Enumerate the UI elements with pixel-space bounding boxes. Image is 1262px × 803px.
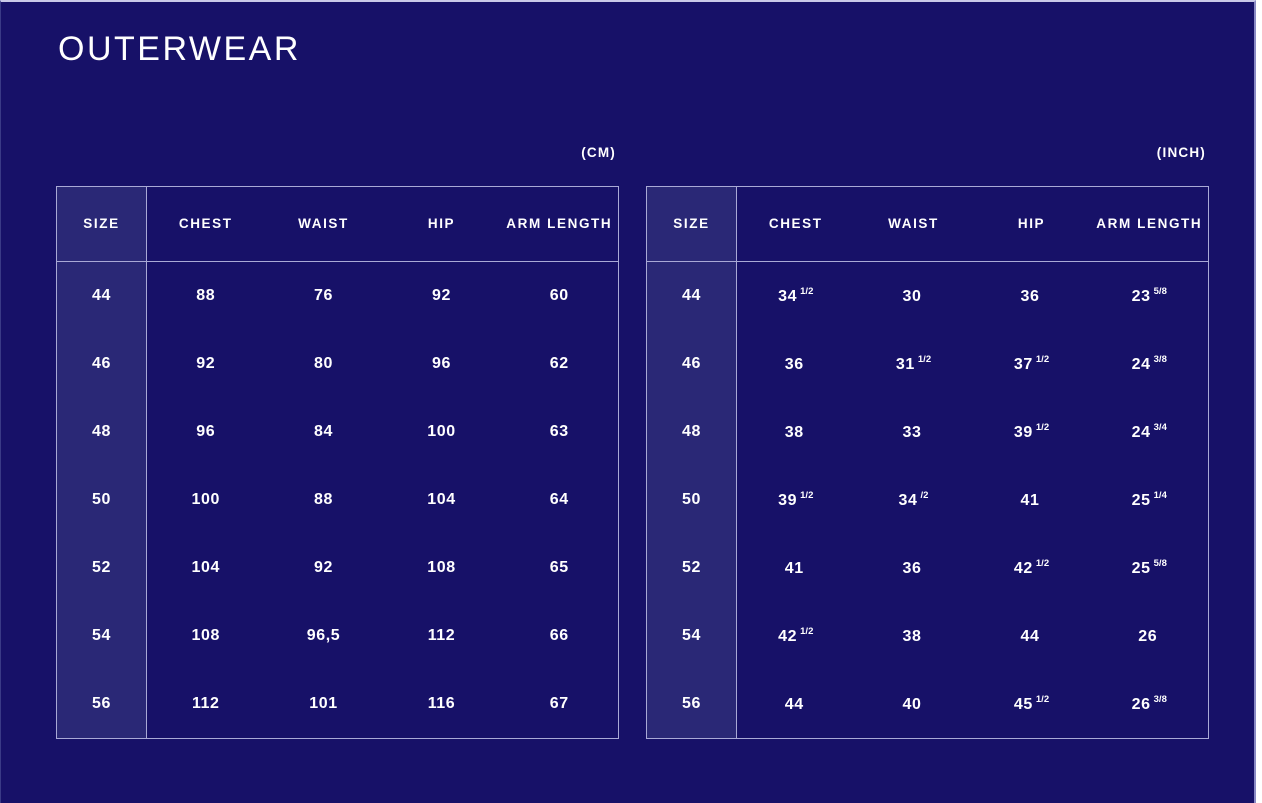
cell-hip: 92 xyxy=(383,262,501,331)
table-row: 46 36 311/2 371/2 243/8 xyxy=(647,330,1209,398)
table-header-row: SIZE CHEST WAIST HIP ARM LENGTH xyxy=(647,187,1209,262)
table-row: 54 421/2 38 44 26 xyxy=(647,602,1209,670)
cell-arm-length: 255/8 xyxy=(1091,534,1209,602)
column-header-size: SIZE xyxy=(647,187,737,262)
cell-chest: 421/2 xyxy=(737,602,855,670)
cell-hip: 451/2 xyxy=(973,670,1091,739)
cell-size: 44 xyxy=(647,262,737,331)
cell-arm-length: 63 xyxy=(501,398,619,466)
cell-hip: 36 xyxy=(973,262,1091,331)
table-row: 50 391/2 34/2 41 251/4 xyxy=(647,466,1209,534)
cell-arm-length: 243/4 xyxy=(1091,398,1209,466)
cell-size: 52 xyxy=(647,534,737,602)
cell-size: 44 xyxy=(57,262,147,331)
cell-hip: 104 xyxy=(383,466,501,534)
table-row: 48 96 84 100 63 xyxy=(57,398,619,466)
cell-chest: 96 xyxy=(147,398,265,466)
cell-arm-length: 263/8 xyxy=(1091,670,1209,739)
column-header-arm-length: ARM LENGTH xyxy=(1091,187,1209,262)
column-header-arm-length: ARM LENGTH xyxy=(501,187,619,262)
cell-size: 54 xyxy=(647,602,737,670)
cell-arm-length: 64 xyxy=(501,466,619,534)
cell-waist: 84 xyxy=(265,398,383,466)
column-header-hip: HIP xyxy=(383,187,501,262)
table-row: 52 41 36 421/2 255/8 xyxy=(647,534,1209,602)
table-row: 50 100 88 104 64 xyxy=(57,466,619,534)
table-row: 46 92 80 96 62 xyxy=(57,330,619,398)
column-header-hip: HIP xyxy=(973,187,1091,262)
cell-waist: 88 xyxy=(265,466,383,534)
size-table-cm: SIZE CHEST WAIST HIP ARM LENGTH 44 88 76… xyxy=(56,186,619,739)
size-chart-page: OUTERWEAR (CM) SIZE CHEST WAIST HIP ARM … xyxy=(0,0,1256,803)
unit-label-inch: (INCH) xyxy=(646,142,1208,164)
cell-size: 50 xyxy=(647,466,737,534)
cell-size: 48 xyxy=(647,398,737,466)
cell-arm-length: 235/8 xyxy=(1091,262,1209,331)
cell-chest: 44 xyxy=(737,670,855,739)
table-row: 52 104 92 108 65 xyxy=(57,534,619,602)
cell-chest: 92 xyxy=(147,330,265,398)
table-header-row: SIZE CHEST WAIST HIP ARM LENGTH xyxy=(57,187,619,262)
cell-hip: 421/2 xyxy=(973,534,1091,602)
cell-arm-length: 243/8 xyxy=(1091,330,1209,398)
cell-arm-length: 62 xyxy=(501,330,619,398)
cell-chest: 104 xyxy=(147,534,265,602)
cell-hip: 108 xyxy=(383,534,501,602)
cell-chest: 88 xyxy=(147,262,265,331)
cell-hip: 371/2 xyxy=(973,330,1091,398)
column-header-waist: WAIST xyxy=(265,187,383,262)
cell-waist: 36 xyxy=(855,534,973,602)
cell-arm-length: 251/4 xyxy=(1091,466,1209,534)
cell-size: 52 xyxy=(57,534,147,602)
cell-chest: 100 xyxy=(147,466,265,534)
cell-size: 46 xyxy=(57,330,147,398)
size-table-inch-block: (INCH) SIZE CHEST WAIST HIP ARM LENGTH xyxy=(646,142,1208,739)
cell-waist: 80 xyxy=(265,330,383,398)
cell-size: 56 xyxy=(647,670,737,739)
unit-label-cm: (CM) xyxy=(56,142,618,164)
cell-chest: 391/2 xyxy=(737,466,855,534)
size-tables-container: (CM) SIZE CHEST WAIST HIP ARM LENGTH xyxy=(1,142,1256,762)
cell-hip: 112 xyxy=(383,602,501,670)
cell-chest: 108 xyxy=(147,602,265,670)
column-header-chest: CHEST xyxy=(737,187,855,262)
cell-arm-length: 60 xyxy=(501,262,619,331)
cell-size: 56 xyxy=(57,670,147,739)
cell-arm-length: 66 xyxy=(501,602,619,670)
table-row: 56 44 40 451/2 263/8 xyxy=(647,670,1209,739)
table-body-inch: 44 341/2 30 36 235/8 46 36 311/2 371/2 2… xyxy=(647,262,1209,739)
cell-chest: 112 xyxy=(147,670,265,739)
column-header-size: SIZE xyxy=(57,187,147,262)
cell-chest: 36 xyxy=(737,330,855,398)
cell-hip: 391/2 xyxy=(973,398,1091,466)
cell-waist: 311/2 xyxy=(855,330,973,398)
table-row: 48 38 33 391/2 243/4 xyxy=(647,398,1209,466)
cell-chest: 38 xyxy=(737,398,855,466)
size-table-inch: SIZE CHEST WAIST HIP ARM LENGTH 44 341/2… xyxy=(646,186,1209,739)
cell-waist: 33 xyxy=(855,398,973,466)
table-row: 44 341/2 30 36 235/8 xyxy=(647,262,1209,331)
page-title: OUTERWEAR xyxy=(58,30,301,69)
cell-waist: 96,5 xyxy=(265,602,383,670)
cell-waist: 38 xyxy=(855,602,973,670)
cell-waist: 30 xyxy=(855,262,973,331)
table-row: 56 112 101 116 67 xyxy=(57,670,619,739)
cell-arm-length: 65 xyxy=(501,534,619,602)
column-header-chest: CHEST xyxy=(147,187,265,262)
cell-size: 54 xyxy=(57,602,147,670)
size-table-cm-block: (CM) SIZE CHEST WAIST HIP ARM LENGTH xyxy=(56,142,618,739)
cell-chest: 41 xyxy=(737,534,855,602)
cell-waist: 92 xyxy=(265,534,383,602)
cell-waist: 76 xyxy=(265,262,383,331)
table-row: 54 108 96,5 112 66 xyxy=(57,602,619,670)
cell-waist: 34/2 xyxy=(855,466,973,534)
cell-size: 46 xyxy=(647,330,737,398)
table-row: 44 88 76 92 60 xyxy=(57,262,619,331)
column-header-waist: WAIST xyxy=(855,187,973,262)
table-body-cm: 44 88 76 92 60 46 92 80 96 62 48 xyxy=(57,262,619,739)
cell-arm-length: 67 xyxy=(501,670,619,739)
cell-size: 48 xyxy=(57,398,147,466)
cell-hip: 96 xyxy=(383,330,501,398)
cell-arm-length: 26 xyxy=(1091,602,1209,670)
cell-hip: 41 xyxy=(973,466,1091,534)
cell-size: 50 xyxy=(57,466,147,534)
cell-hip: 44 xyxy=(973,602,1091,670)
cell-hip: 116 xyxy=(383,670,501,739)
cell-waist: 40 xyxy=(855,670,973,739)
cell-waist: 101 xyxy=(265,670,383,739)
cell-hip: 100 xyxy=(383,398,501,466)
cell-chest: 341/2 xyxy=(737,262,855,331)
